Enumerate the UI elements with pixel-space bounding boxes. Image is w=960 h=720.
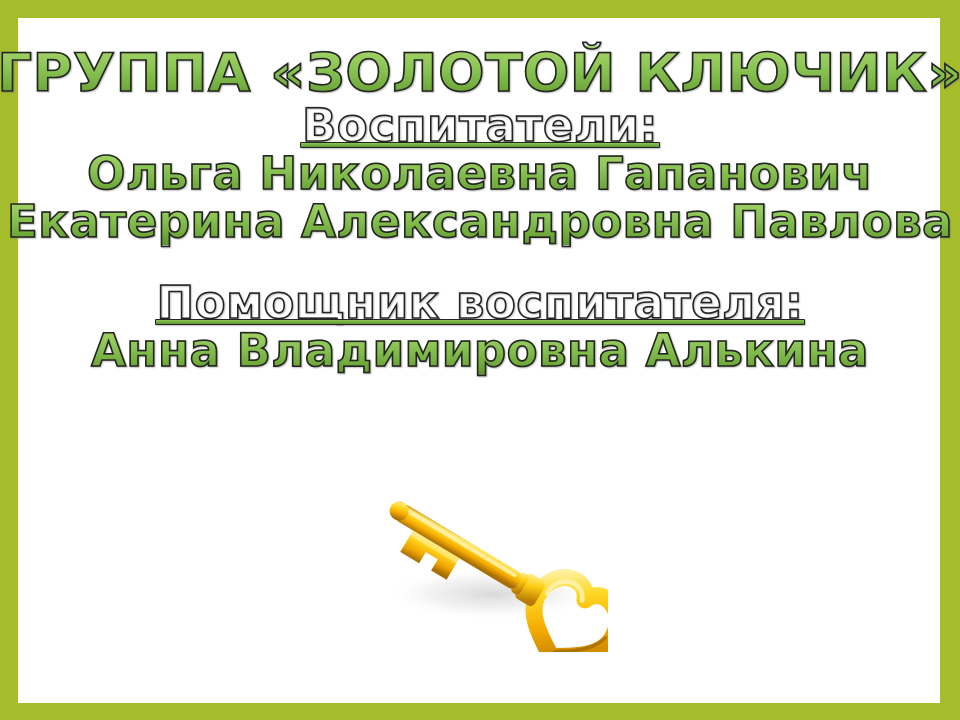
- page-title: ГРУППА «ЗОЛОТОЙ КЛЮЧИК»: [0, 46, 960, 102]
- golden-key-image: [352, 466, 608, 652]
- teacher-name-2: Екатерина Александровна Павлова: [0, 198, 960, 246]
- block-spacer: [0, 245, 960, 279]
- teachers-role-label-text: Воспитатели:: [302, 102, 658, 150]
- slide-border-top: [0, 0, 960, 18]
- teacher-name-1: Ольга Николаевна Гапанович: [0, 150, 960, 198]
- text-content: ГРУППА «ЗОЛОТОЙ КЛЮЧИК» Воспитатели: Оль…: [0, 46, 960, 375]
- assistant-role-label: Помощник воспитателя:: [0, 279, 960, 327]
- assistant-name-1: Анна Владимировна Алькина: [0, 327, 960, 375]
- teachers-role-label: Воспитатели:: [0, 102, 960, 150]
- golden-heart-key-icon: [352, 466, 608, 652]
- assistant-role-label-text: Помощник воспитателя:: [157, 279, 804, 327]
- key-body: [367, 479, 608, 652]
- slide-border-bottom: [0, 703, 960, 720]
- slide: ГРУППА «ЗОЛОТОЙ КЛЮЧИК» Воспитатели: Оль…: [0, 0, 960, 720]
